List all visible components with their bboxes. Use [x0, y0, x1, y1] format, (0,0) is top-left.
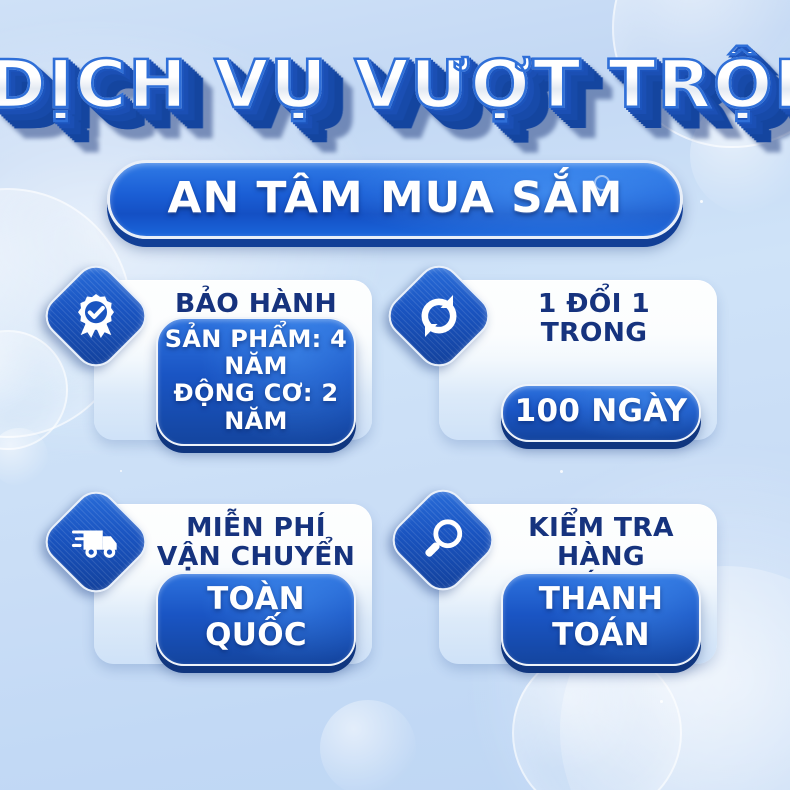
card-highlight-pill: 100 NGÀY [501, 384, 701, 442]
subtitle-text: AN TÂM MUA SẮM [167, 177, 623, 220]
pill-line: SẢN PHẨM: 4 NĂM [164, 326, 348, 381]
pill-line: THANH TOÁN [509, 582, 693, 653]
feature-card-inspect-before-payment[interactable]: KIỂM TRA HÀNG TRƯỚC KHI THANH TOÁN [397, 492, 717, 682]
card-title-line: 1 ĐỔI 1 [479, 290, 710, 319]
card-highlight-pill: SẢN PHẨM: 4 NĂM ĐỘNG CƠ: 2 NĂM [156, 317, 356, 446]
card-title-line: TRONG [479, 319, 710, 348]
pill-line: TOÀN QUỐC [164, 582, 348, 653]
card-title: MIỄN PHÍ VẬN CHUYỂN [148, 514, 364, 572]
card-title: BẢO HÀNH [148, 290, 364, 319]
bubble-decoration [0, 428, 48, 486]
card-highlight-pill: TOÀN QUỐC [156, 572, 356, 666]
subtitle-container: AN TÂM MUA SẮM [0, 160, 790, 239]
page-title: DỊCH VỤ VƯỢT TRỘI [0, 52, 790, 118]
card-title: 1 ĐỔI 1 TRONG [479, 290, 710, 348]
main-title-container: DỊCH VỤ VƯỢT TRỘI [0, 52, 790, 118]
subtitle-banner: AN TÂM MUA SẮM [107, 160, 684, 239]
card-title-line: VẬN CHUYỂN [148, 543, 364, 572]
card-highlight-pill: THANH TOÁN [501, 572, 701, 666]
pill-line: ĐỘNG CƠ: 2 NĂM [164, 380, 348, 435]
pill-line: 100 NGÀY [509, 394, 693, 429]
card-title-line: KIỂM TRA HÀNG [493, 514, 709, 572]
feature-grid: BẢO HÀNH SẢN PHẨM: 4 NĂM ĐỘNG CƠ: 2 NĂM … [52, 268, 742, 716]
feature-card-free-shipping[interactable]: MIỄN PHÍ VẬN CHUYỂN TOÀN QUỐC [52, 492, 372, 682]
card-title-line: MIỄN PHÍ [148, 514, 364, 543]
feature-card-warranty[interactable]: BẢO HÀNH SẢN PHẨM: 4 NĂM ĐỘNG CƠ: 2 NĂM [52, 268, 372, 458]
feature-card-exchange[interactable]: 1 ĐỔI 1 TRONG 100 NGÀY [397, 268, 717, 458]
